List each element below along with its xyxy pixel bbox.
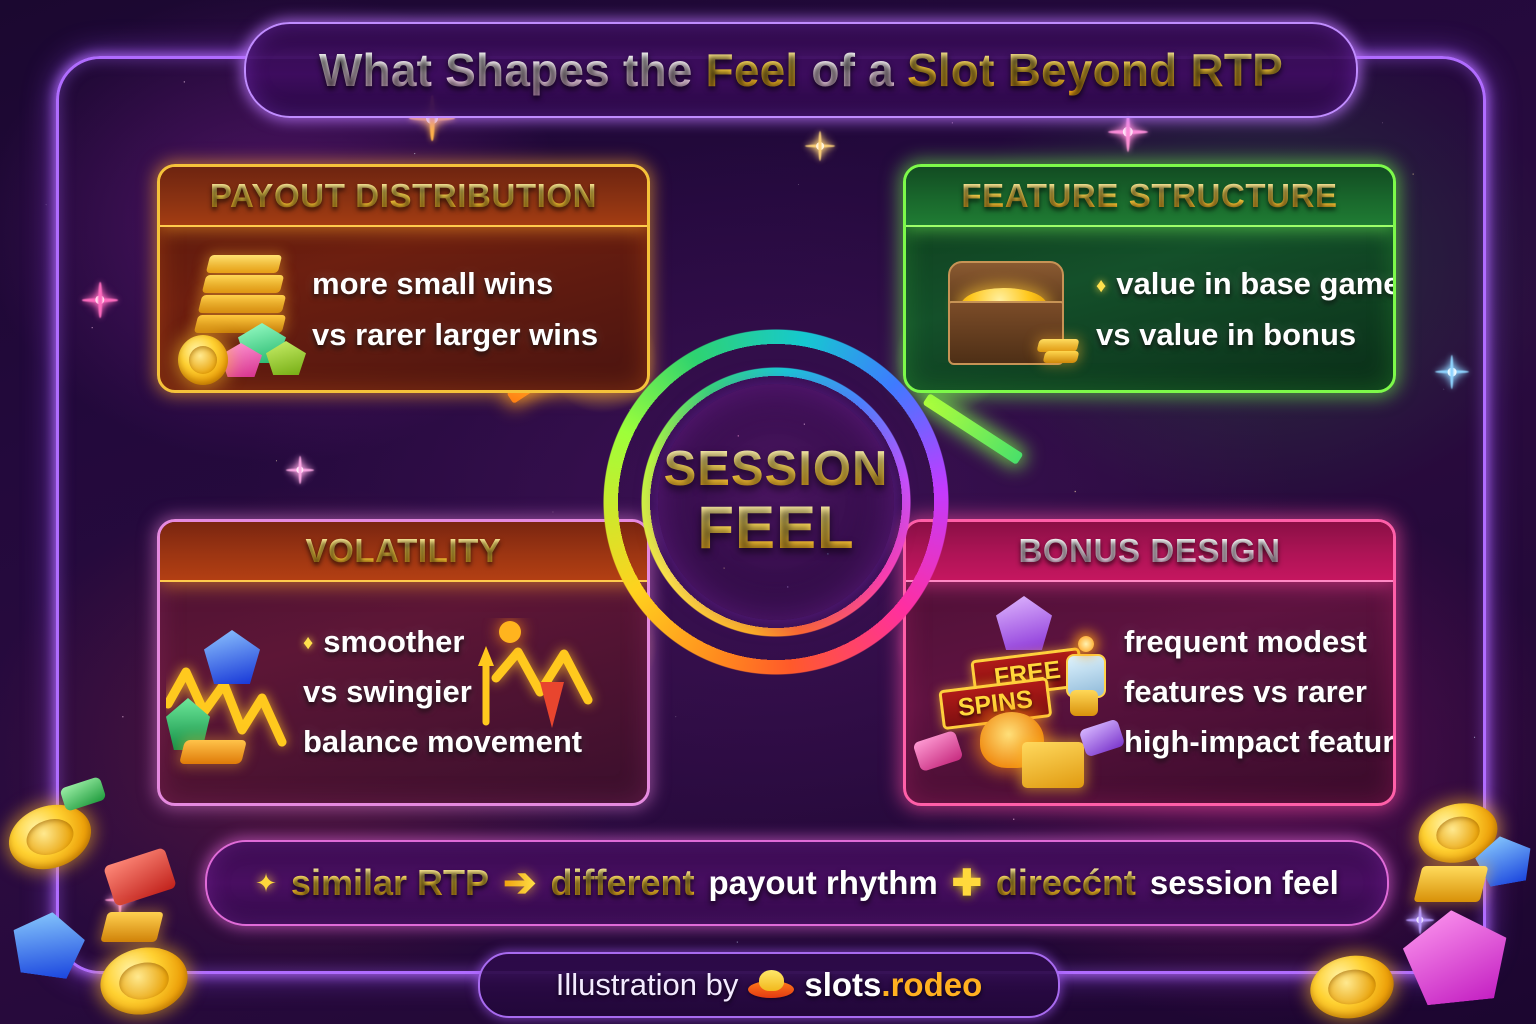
panel-line: ♦smoother [303,617,582,667]
panel-line: features vs rarer [1124,667,1396,717]
free-label: FREE [970,648,1077,694]
gold-coin-decoration [94,940,194,1023]
panel-line-text: value in base game [1116,266,1396,301]
panel-line: more small wins [312,259,598,309]
volatility-chart-icon [166,612,304,782]
diamond-icon: ✦ [255,868,277,899]
panel-line: vs swingier [303,667,582,717]
gold-bar-decoration [100,912,163,942]
hub-core: SESSION FEEL [658,384,894,620]
magic-lamp-icon [1062,636,1108,718]
brand-name: slots.rodeo [804,966,982,1004]
green-gem-decoration [59,776,106,812]
panel-title: PAYOUT DISTRIBUTION [210,177,597,215]
gold-box-icon [1022,742,1084,788]
sparkle-icon [1108,112,1148,152]
title-part-3: of a [798,44,907,96]
sparkle-icon [286,456,314,484]
brand-word: slots [804,966,881,1003]
panel-header-volatility: VOLATILITY [160,522,647,582]
panel-title: VOLATILITY [305,532,501,570]
sparkle-icon [805,131,835,161]
panel-line-text: smoother [323,624,464,659]
panel-body-bonus: FREE SPINS frequent modest features vs r… [906,582,1393,802]
hub-label-line2: FEEL [697,497,854,558]
panel-line: vs value in bonus [1096,310,1396,360]
panel-line: high-impact features [1124,717,1396,767]
blue-gem-decoration [8,907,88,980]
panel-feature-structure[interactable]: FEATURE STRUCTURE ♦value in base game vs… [903,164,1396,393]
cowboy-hat-logo [748,970,794,1000]
banner-gold-2: different [551,862,695,904]
banner-gold-1: similar RTP [291,862,489,904]
panel-line: ♦value in base game [1096,259,1396,309]
footer-prefix: Illustration by [556,967,739,1003]
magenta-gem-decoration [1399,905,1512,1007]
page-title-banner: What Shapes the Feel of a Slot Beyond RT… [244,22,1358,118]
panel-lines-payout: more small wins vs rarer larger wins [312,259,598,359]
panel-volatility[interactable]: VOLATILITY ♦smooth [157,519,650,806]
title-part-2: Feel [706,44,799,96]
panel-body-volatility: ♦smoother vs swingier balance movement [160,582,647,802]
sparkle-icon [1435,355,1469,389]
panel-header-feature: FEATURE STRUCTURE [906,167,1393,227]
gold-coin-decoration [0,795,99,880]
summary-banner: ✦ similar RTP ➔ different payout rhythm … [205,840,1389,926]
banner-white-2: session feel [1150,864,1339,902]
banner-gold-3: direcćnt [996,862,1136,904]
panel-bonus-design[interactable]: BONUS DESIGN FREE SPINS [903,519,1396,806]
spins-label: SPINS [938,678,1045,724]
diamond-bullet-icon: ♦ [1096,275,1106,297]
title-part-4: Slot Beyond RTP [907,44,1283,96]
diamond-bullet-icon: ♦ [303,632,313,654]
panel-header-payout: PAYOUT DISTRIBUTION [160,167,647,227]
banner-white-1: payout rhythm [709,864,938,902]
fire-burst-icon [980,712,1044,768]
panel-header-bonus: BONUS DESIGN [906,522,1393,582]
panel-payout-distribution[interactable]: PAYOUT DISTRIBUTION more small wins vs r… [157,164,650,393]
panel-body-feature: ♦value in base game vs value in bonus [906,227,1393,392]
plus-icon: ✚ [952,862,982,904]
page-title: What Shapes the Feel of a Slot Beyond RT… [319,43,1283,97]
panel-line: frequent modest [1124,617,1396,667]
panel-title: BONUS DESIGN [1018,532,1280,570]
panel-lines-bonus: frequent modest features vs rarer high-i… [1124,617,1396,768]
gold-bar-decoration [1414,866,1489,902]
hub-label-line1: SESSION [664,445,889,495]
infographic-canvas: What Shapes the Feel of a Slot Beyond RT… [0,0,1536,1024]
footer-credit[interactable]: Illustration by slots.rodeo [478,952,1060,1018]
panel-lines-feature: ♦value in base game vs value in bonus [1096,259,1396,359]
gold-coin-decoration [1305,949,1398,1024]
panel-title: FEATURE STRUCTURE [961,177,1337,215]
central-hub-session-feel[interactable]: SESSION FEEL [596,322,956,682]
red-gem-decoration [103,847,177,907]
panel-line: vs rarer larger wins [312,310,598,360]
title-part-1: What Shapes the [319,44,706,96]
panel-line: balance movement [303,717,582,767]
panel-lines-volatility: ♦smoother vs swingier balance movement [303,617,582,768]
zigzag-line-icon [166,612,304,782]
arrow-right-icon: ➔ [503,860,537,906]
panel-body-payout: more small wins vs rarer larger wins [160,227,647,392]
brand-tld: .rodeo [881,966,982,1003]
sparkle-icon [82,282,118,318]
gold-bars-gems-icon [178,249,308,377]
